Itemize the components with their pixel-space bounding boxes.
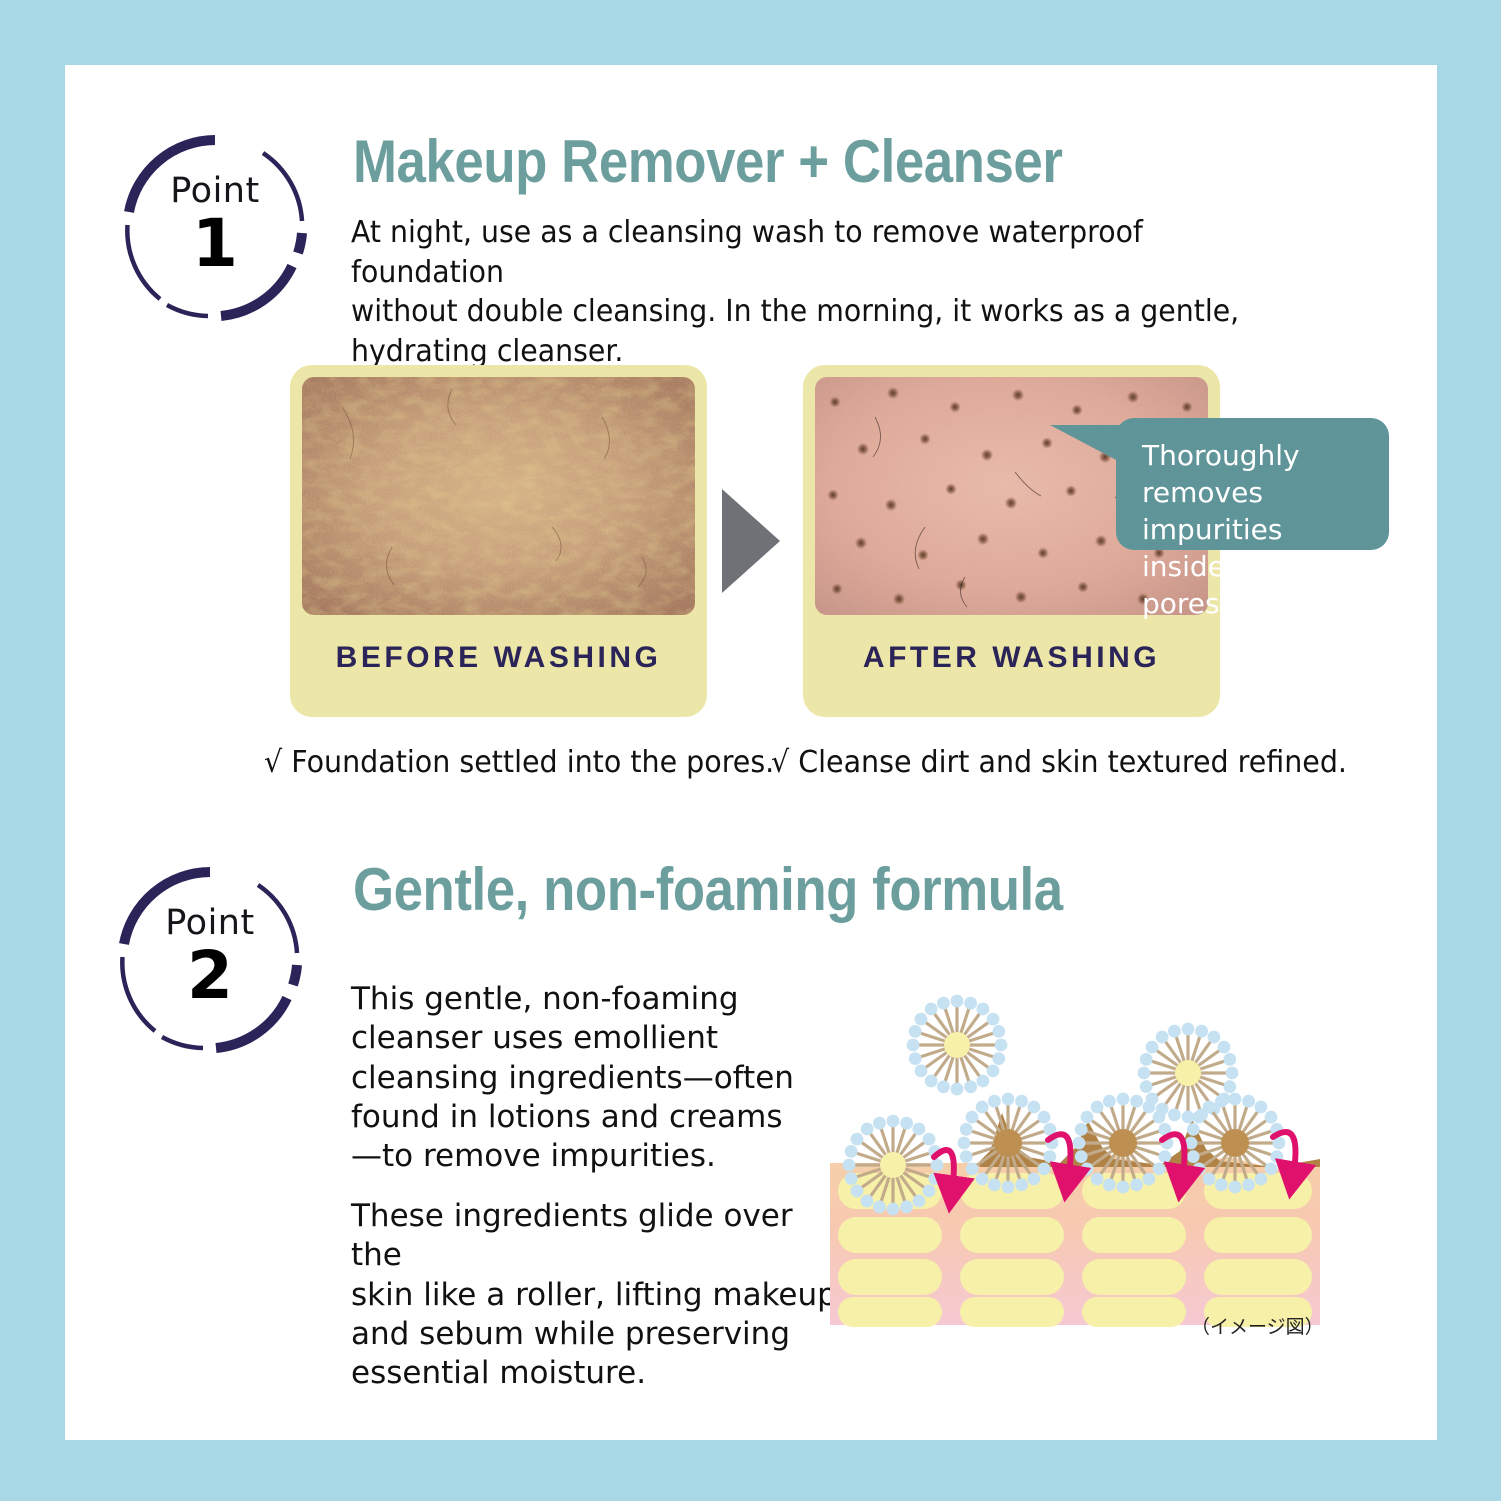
point-2-p2-line: skin like a roller, lifting makeup	[351, 1276, 851, 1315]
before-washing-label: BEFORE WASHING	[290, 641, 707, 675]
point-1-number: 1	[120, 211, 310, 277]
point-1-body-line: At night, use as a cleansing wash to rem…	[351, 213, 1290, 292]
point-2-p1-line: This gentle, non-foaming	[351, 980, 821, 1019]
callout-line: impurities inside	[1142, 512, 1365, 586]
callout-line: Thoroughly removes	[1142, 438, 1365, 512]
point-2-heading: Gentle, non-foaming formula	[353, 855, 1063, 924]
point-2-p2-line: essential moisture.	[351, 1354, 851, 1393]
point-2-number: 2	[115, 943, 305, 1009]
before-washing-caption: √ Foundation settled into the pores.	[264, 745, 774, 780]
callout-bubble: Thoroughly removes impurities inside por…	[1116, 418, 1389, 550]
before-washing-photo	[302, 377, 695, 615]
after-washing-label: AFTER WASHING	[803, 641, 1220, 675]
point-2-paragraph-1: This gentle, non-foaming cleanser uses e…	[351, 980, 821, 1177]
callout-line: pores.	[1142, 586, 1365, 623]
micelle-skin-diagram	[830, 945, 1320, 1365]
point-2-paragraph-2: These ingredients glide over the skin li…	[351, 1197, 851, 1394]
point-2-p2-line: These ingredients glide over the	[351, 1197, 851, 1276]
point-1-body-line: without double cleansing. In the morning…	[351, 292, 1290, 332]
point-2-p1-line: cleanser uses emollient	[351, 1019, 821, 1058]
point-2-p1-line: cleansing ingredients—often	[351, 1059, 821, 1098]
point-2-p2-line: and sebum while preserving	[351, 1315, 851, 1354]
progression-arrow-icon	[722, 489, 780, 593]
content-panel: Point 1 Makeup Remover + Cleanser At nig…	[65, 65, 1437, 1440]
point-2-p1-line: —to remove impurities.	[351, 1137, 821, 1176]
point-1-body: At night, use as a cleansing wash to rem…	[351, 213, 1290, 372]
diagram-caption: （イメージ図）	[1191, 1312, 1324, 1339]
micelle-floating	[907, 995, 1008, 1096]
before-washing-card: BEFORE WASHING	[290, 365, 707, 717]
after-washing-caption: √ Cleanse dirt and skin textured refined…	[771, 745, 1347, 780]
point-1-badge: Point 1	[120, 133, 310, 323]
point-2-badge: Point 2	[115, 865, 305, 1055]
outer-border: Point 1 Makeup Remover + Cleanser At nig…	[0, 0, 1501, 1501]
point-2-p1-line: found in lotions and creams	[351, 1098, 821, 1137]
point-1-heading: Makeup Remover + Cleanser	[353, 127, 1062, 196]
